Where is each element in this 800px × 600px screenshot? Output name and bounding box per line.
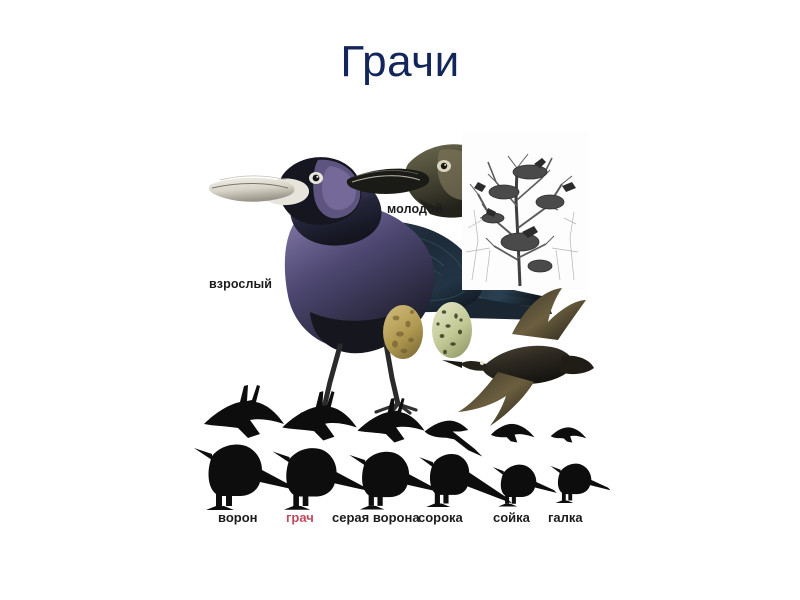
- illustration-plate: взрослый молодой ворон грач серая ворона…: [190, 120, 610, 540]
- page-title: Грачи: [0, 38, 800, 86]
- species-label-hooded-crow: серая ворона: [332, 510, 420, 525]
- species-label-rook: грач: [286, 510, 314, 525]
- species-label-row: ворон грач серая ворона сорока сойка гал…: [190, 510, 610, 532]
- species-label-raven: ворон: [218, 510, 258, 525]
- rookery-tree-nests-sketch: [462, 132, 588, 290]
- slide-canvas: Грачи: [0, 0, 800, 600]
- species-label-jackdaw: галка: [548, 510, 583, 525]
- plate-graphic: [190, 120, 610, 540]
- species-label-magpie: сорока: [418, 510, 463, 525]
- corvid-perched-silhouettes-row: [194, 444, 610, 510]
- species-label-jay: сойка: [493, 510, 530, 525]
- label-young-bird: молодой: [387, 202, 443, 216]
- label-adult-bird: взрослый: [209, 277, 272, 291]
